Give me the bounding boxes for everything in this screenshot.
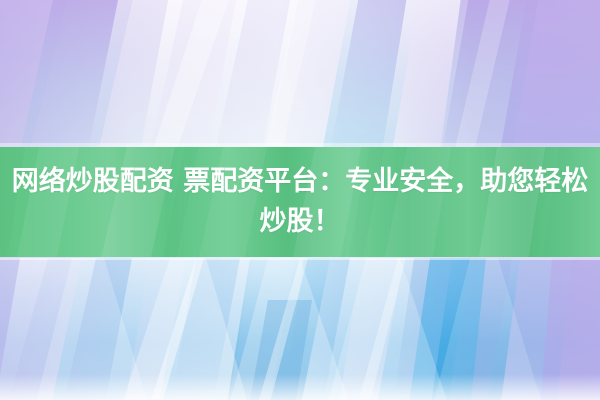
- banner-headline: 网络炒股配资 票配资平台：专业安全，助您轻松炒股！: [0, 162, 600, 242]
- green-banner-band: 网络炒股配资 票配资平台：专业安全，助您轻松炒股！: [0, 147, 600, 257]
- promo-banner: 网络炒股配资 票配资平台：专业安全，助您轻松炒股！: [0, 0, 600, 400]
